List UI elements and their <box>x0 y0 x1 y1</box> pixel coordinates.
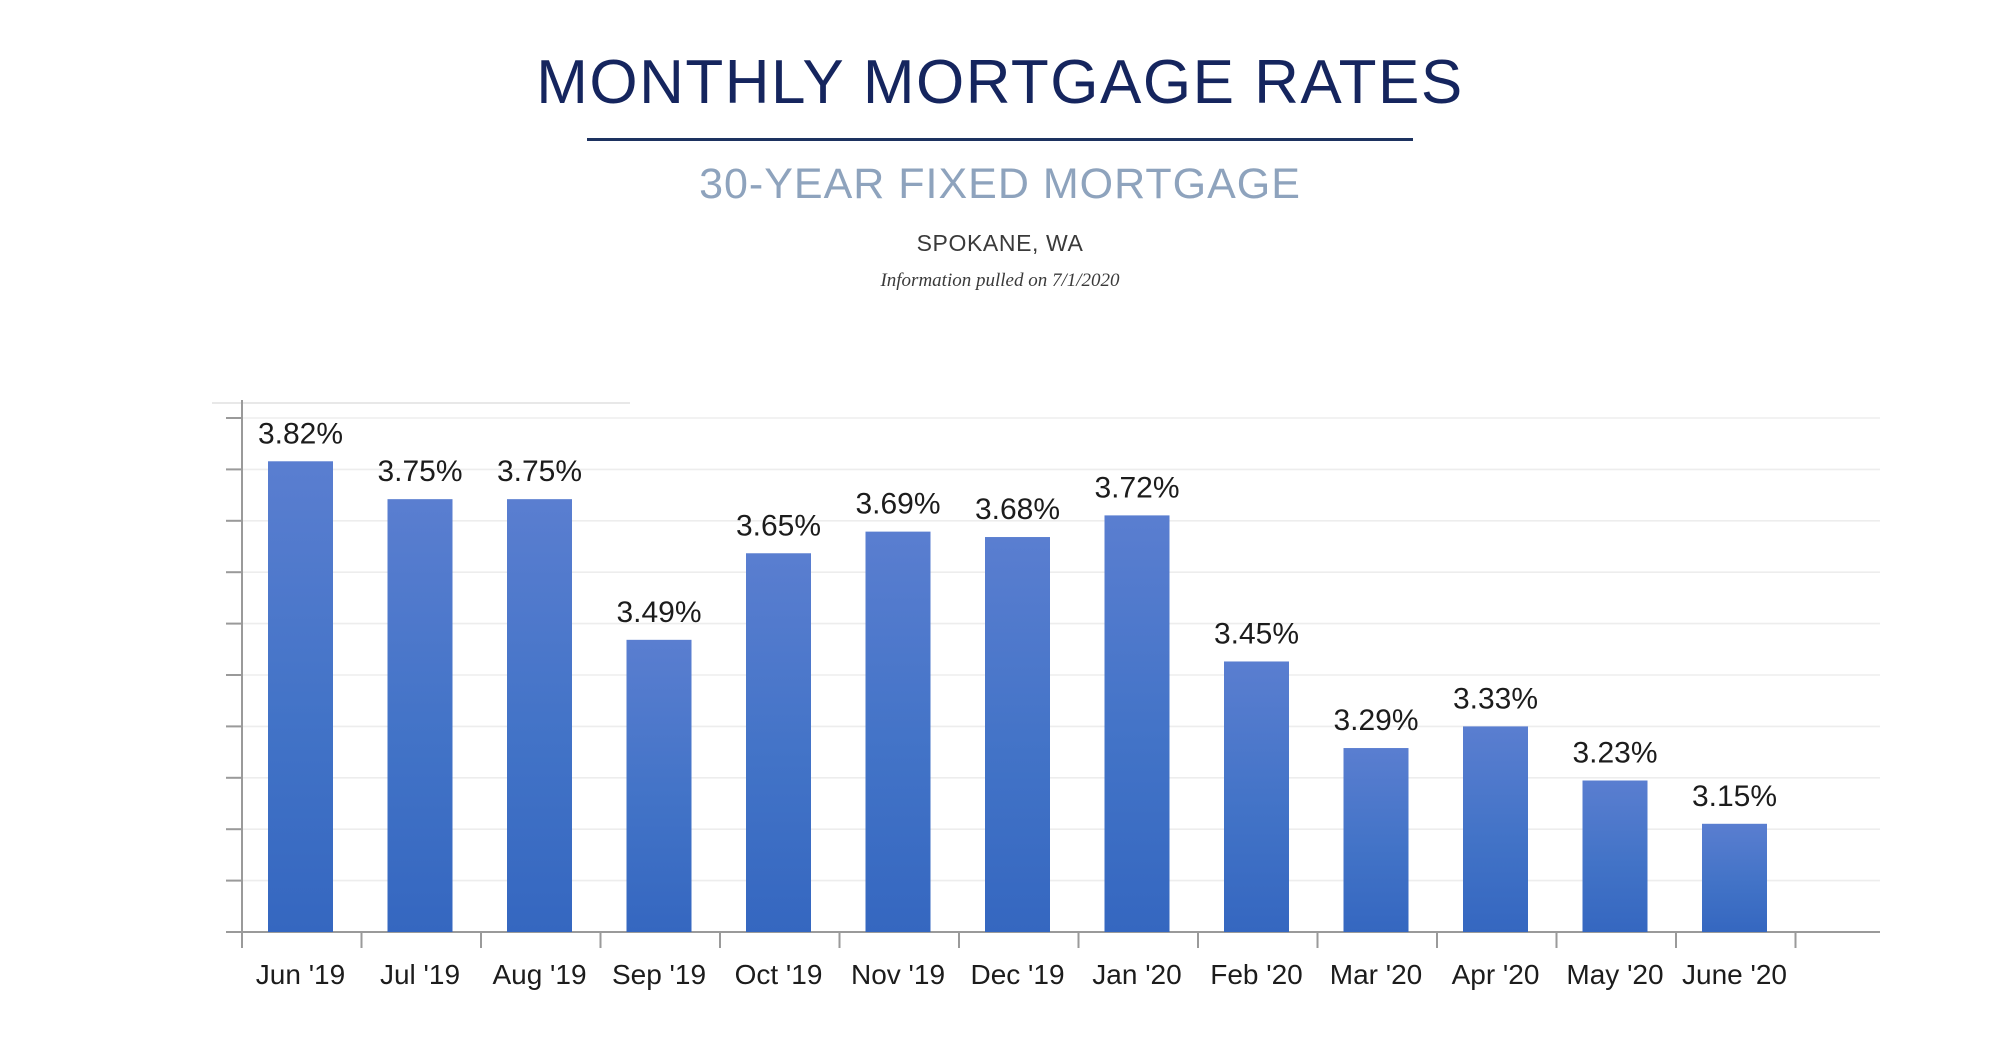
bar-value-label: 3.65% <box>736 509 821 542</box>
bar <box>1463 726 1528 932</box>
bar <box>268 461 333 932</box>
bar-value-label: 3.82% <box>258 417 343 450</box>
bar <box>1105 515 1170 932</box>
x-axis-category-label: June '20 <box>1682 959 1787 990</box>
bar-value-label: 3.15% <box>1692 780 1777 813</box>
bar-value-label: 3.29% <box>1333 704 1418 737</box>
x-axis-category-label: Feb '20 <box>1210 959 1303 990</box>
bar <box>1224 661 1289 932</box>
bar-value-label: 3.72% <box>1094 471 1179 504</box>
bar <box>1702 824 1767 932</box>
bar <box>1583 781 1648 932</box>
x-axis-category-label: Jan '20 <box>1092 959 1181 990</box>
bar <box>507 499 572 932</box>
bar-value-label: 3.49% <box>616 596 701 629</box>
x-axis-category-label: Aug '19 <box>492 959 586 990</box>
bar <box>985 537 1050 932</box>
x-axis-category-label: May '20 <box>1566 959 1663 990</box>
bar-value-label: 3.69% <box>855 488 940 521</box>
category-labels-group: Jun '19Jul '19Aug '19Sep '19Oct '19Nov '… <box>256 959 1787 990</box>
bars-group <box>268 461 1767 932</box>
bar-chart-svg: 3.82%3.75%3.75%3.49%3.65%3.69%3.68%3.72%… <box>0 0 2000 1045</box>
bar-value-label: 3.75% <box>497 455 582 488</box>
bar-chart-plot: 3.82%3.75%3.75%3.49%3.65%3.69%3.68%3.72%… <box>0 0 2000 1045</box>
bar-value-label: 3.75% <box>377 455 462 488</box>
bar-value-label: 3.33% <box>1453 682 1538 715</box>
x-axis-category-label: Mar '20 <box>1330 959 1423 990</box>
x-axis-category-label: Oct '19 <box>735 959 823 990</box>
x-axis-category-label: Jun '19 <box>256 959 345 990</box>
bar-value-label: 3.45% <box>1214 617 1299 650</box>
bar <box>746 553 811 932</box>
x-axis-category-label: Sep '19 <box>612 959 706 990</box>
x-axis-category-label: Nov '19 <box>851 959 945 990</box>
bar <box>866 532 931 932</box>
bar <box>1344 748 1409 932</box>
x-axis-category-label: Apr '20 <box>1452 959 1540 990</box>
bar <box>388 499 453 932</box>
bar <box>627 640 692 932</box>
bar-value-label: 3.23% <box>1572 737 1657 770</box>
x-axis-category-label: Dec '19 <box>970 959 1064 990</box>
x-axis-category-label: Jul '19 <box>380 959 460 990</box>
bar-value-label: 3.68% <box>975 493 1060 526</box>
